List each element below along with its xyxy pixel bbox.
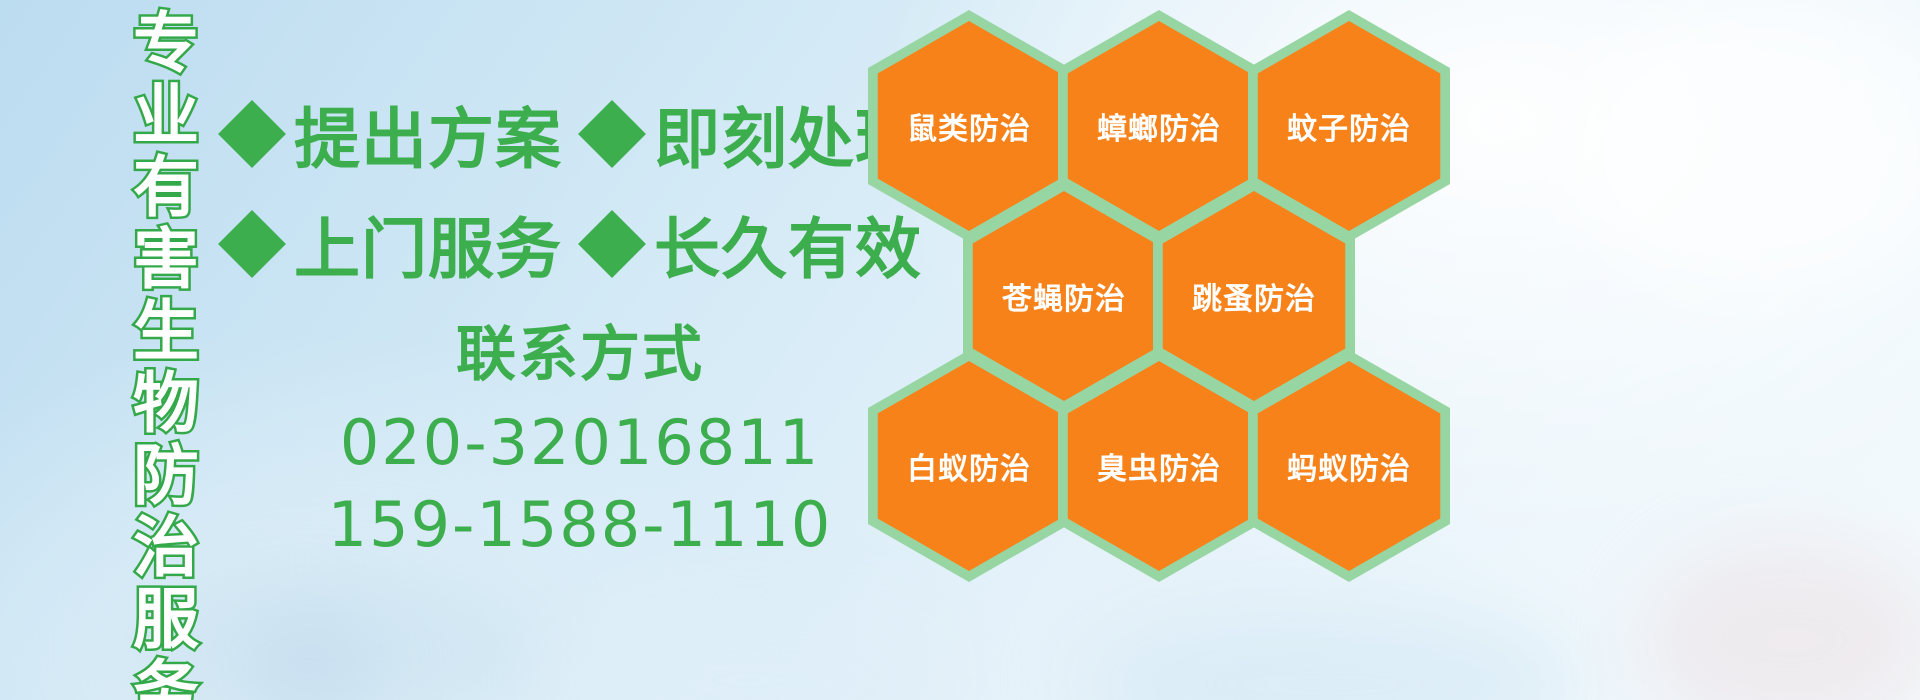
pest-control-banner: 专 业 有 害 生 物 防 治 服 务 提出方案 即刻处理 上门服务 长久有效 … [0,0,1920,700]
vertical-slogan-char: 治 [118,512,214,584]
vertical-slogan-char: 有 [118,152,214,224]
contact-block: 联系方式 020-32016811 159-1588-1110 [300,318,860,566]
phone-mobile[interactable]: 159-1588-1110 [300,484,860,566]
vertical-slogan-char: 业 [118,80,214,152]
background-blob [1560,0,1920,300]
phone-landline[interactable]: 020-32016811 [300,402,860,484]
feature-line-2: 上门服务 长久有效 [228,196,922,292]
vertical-slogan-char: 物 [118,368,214,440]
service-label: 白蚁防治 [868,350,1070,582]
diamond-bullet-icon [578,100,646,168]
vertical-slogan-char: 务 [118,656,214,700]
service-label: 臭虫防治 [1058,350,1260,582]
vertical-slogan-char: 生 [118,296,214,368]
diamond-bullet-icon [218,100,286,168]
contact-title: 联系方式 [300,318,860,392]
vertical-slogan: 专 业 有 害 生 物 防 治 服 务 [118,8,214,700]
service-hex-ant[interactable]: 蚂蚁防治 [1248,350,1450,582]
feature-line-1: 提出方案 即刻处理 [228,86,922,182]
background-blob [1640,540,1920,700]
vertical-slogan-char: 防 [118,440,214,512]
feature-label-propose-plan: 提出方案 [294,86,562,182]
service-hex-termite[interactable]: 白蚁防治 [868,350,1070,582]
services-honeycomb: 鼠类防治 蟑螂防治 蚊子防治 苍蝇防治 跳蚤防治 白蚁防治 [860,0,1480,700]
vertical-slogan-char: 服 [118,584,214,656]
diamond-bullet-icon [578,210,646,278]
vertical-slogan-char: 专 [118,8,214,80]
vertical-slogan-char: 害 [118,224,214,296]
background-blob [250,620,370,700]
feature-label-onsite-service: 上门服务 [294,196,562,292]
diamond-bullet-icon [218,210,286,278]
service-label: 蚂蚁防治 [1248,350,1450,582]
service-hex-bedbug[interactable]: 臭虫防治 [1058,350,1260,582]
